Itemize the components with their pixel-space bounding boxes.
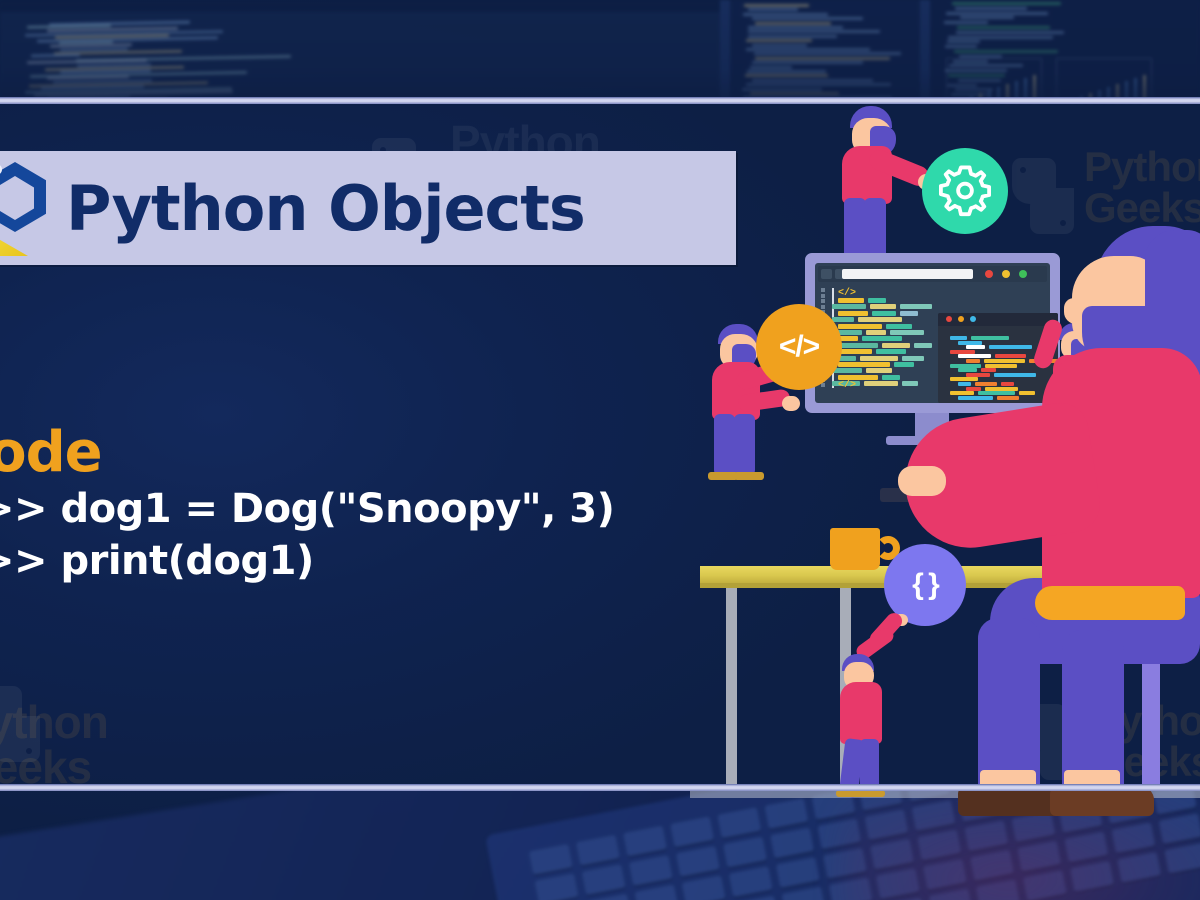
code-line-2: >>> print(dog1) [0, 535, 614, 587]
divider-bottom [0, 784, 1200, 791]
slide-canvas: Python Geeks Python Geeks Python Geeks P… [0, 0, 1200, 900]
code-heading: Code [0, 424, 614, 483]
person-with-braces-icon: { } [848, 544, 978, 794]
code-block: Code >>> dog1 = Dog("Snoopy", 3) >>> pri… [0, 424, 614, 587]
code-line-1: >>> dog1 = Dog("Snoopy", 3) [0, 483, 614, 535]
developer-hand [898, 466, 946, 496]
divider-top [0, 97, 1200, 104]
background-ide-screenshot [0, 0, 1200, 102]
page-title: Python Objects [66, 172, 585, 245]
developer-illustration: </> </> </> [690, 98, 1200, 788]
python-hex-logo-icon [0, 160, 64, 260]
title-banner: Python Objects [0, 151, 736, 265]
chair-seat [1035, 586, 1185, 620]
